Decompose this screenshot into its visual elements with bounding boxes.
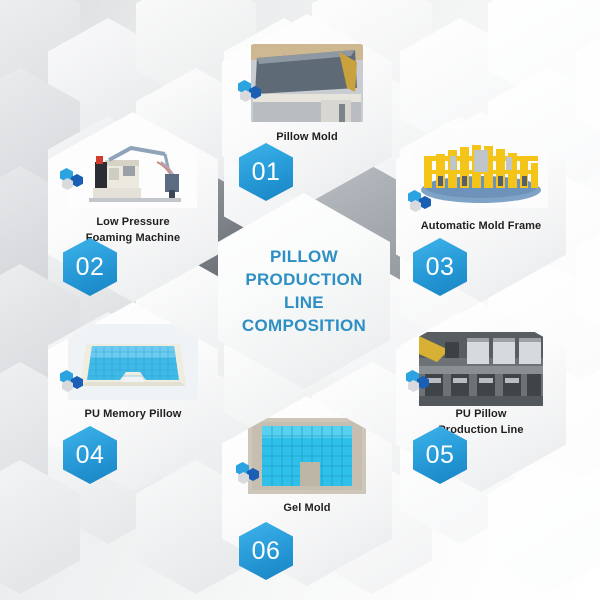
decor-hex-dots [236,462,270,482]
infographic-canvas: Pillow Mold 01 [0,0,600,600]
node-label-01: Pillow Mold [227,129,387,145]
decor-hex-dots [408,190,442,210]
gel-mold-photo [248,418,366,494]
node-label-03: Automatic Mold Frame [401,218,561,234]
decor-hex-dots [60,370,94,390]
center-title: PILLOW PRODUCTION LINE COMPOSITION [242,245,366,337]
decor-hex-dots [406,370,440,390]
node-label-02: Low Pressure Foaming Machine [53,214,213,246]
pu-pillow-production-line-photo [419,332,543,406]
node-label-06: Gel Mold [227,500,387,516]
decor-hex-dots [238,80,272,100]
node-label-04: PU Memory Pillow [53,406,213,422]
node-label-05: PU Pillow Production Line [401,406,561,438]
decor-hex-dots [60,168,94,188]
